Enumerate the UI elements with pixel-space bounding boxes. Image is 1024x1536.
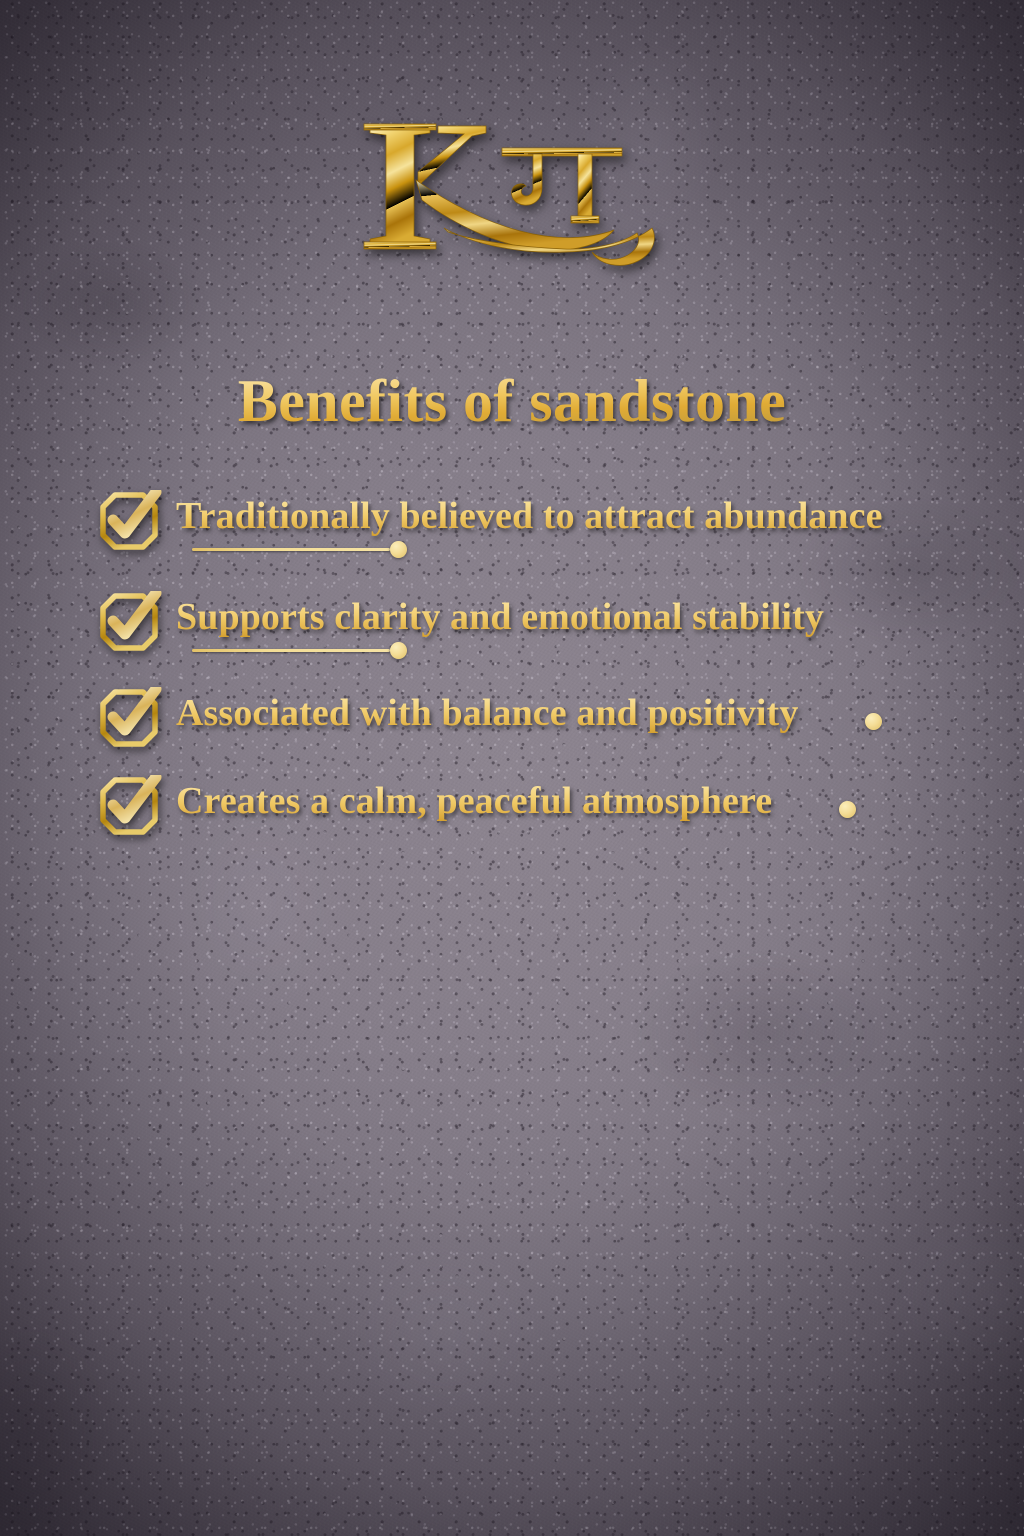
benefit-body: Associated with balance and positivity: [176, 683, 960, 738]
benefit-text: Creates a calm, peaceful atmosphere: [176, 780, 772, 822]
divider-dot: [390, 541, 407, 558]
benefit-text: Supports clarity and emotional stability: [176, 596, 824, 638]
benefits-list: Traditionally believed to attract abunda…: [98, 486, 960, 855]
divider-dot: [390, 642, 407, 659]
kj-monogram-icon: [352, 104, 672, 269]
divider-line: [192, 548, 390, 551]
divider-dot: [865, 713, 882, 730]
poster-root: Benefits of sandstone: [0, 0, 1024, 1536]
benefit-body: Supports clarity and emotional stability: [176, 587, 960, 660]
checkbox-checked-icon[interactable]: [98, 591, 162, 657]
page-title: Benefits of sandstone: [0, 371, 1024, 431]
checkbox-checked-icon[interactable]: [98, 775, 162, 841]
poster-content: Benefits of sandstone: [0, 0, 1024, 1536]
benefit-text: Traditionally believed to attract abunda…: [176, 495, 883, 537]
benefit-body: Traditionally believed to attract abunda…: [176, 486, 960, 559]
benefit-item-balance: Associated with balance and positivity: [98, 683, 960, 753]
benefit-item-calm: Creates a calm, peaceful atmosphere: [98, 771, 960, 841]
benefit-item-abundance: Traditionally believed to attract abunda…: [98, 486, 960, 559]
brand-logo: [0, 104, 1024, 269]
benefit-text: Associated with balance and positivity: [176, 692, 798, 734]
benefit-divider: [192, 540, 407, 558]
checkbox-checked-icon[interactable]: [98, 687, 162, 753]
benefit-divider: [192, 641, 407, 659]
checkbox-checked-icon[interactable]: [98, 490, 162, 556]
divider-line: [192, 649, 390, 652]
benefit-body: Creates a calm, peaceful atmosphere: [176, 771, 960, 826]
benefit-item-clarity: Supports clarity and emotional stability: [98, 587, 960, 660]
divider-dot: [839, 801, 856, 818]
